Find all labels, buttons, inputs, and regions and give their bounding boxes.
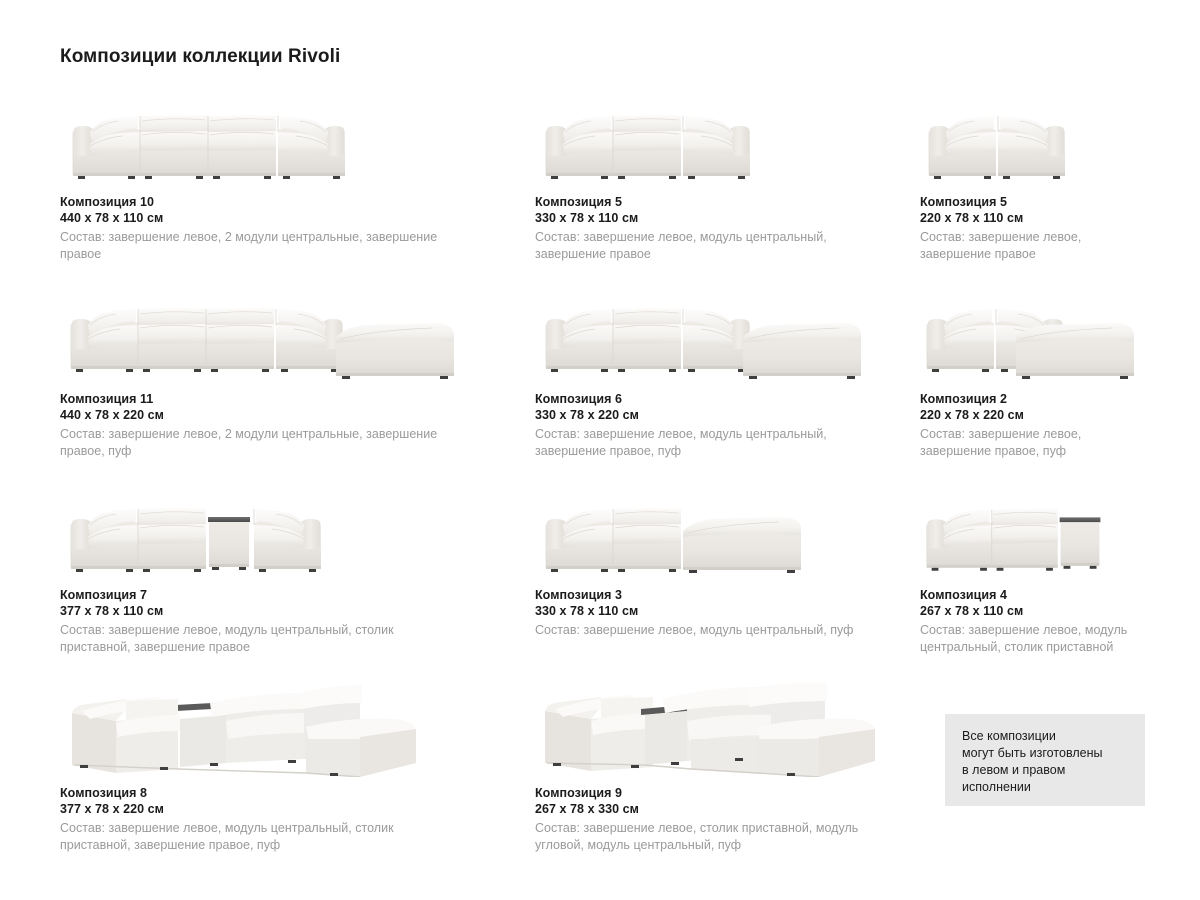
composition-card-6[interactable]: Композиция 6 330 x 78 x 220 см Состав: з… <box>535 285 920 481</box>
composition-dimensions: 267 x 78 x 330 см <box>535 801 920 818</box>
info-line: в левом и правом <box>962 762 1129 779</box>
sofa-figure-4 <box>920 481 1145 579</box>
composition-card-5a[interactable]: Композиция 5 330 x 78 x 110 см Состав: з… <box>535 88 920 285</box>
composition-dimensions: 330 x 78 x 110 см <box>535 210 920 227</box>
info-box: Все композиции могут быть изготовлены в … <box>945 714 1145 806</box>
composition-dimensions: 220 x 78 x 220 см <box>920 407 1145 424</box>
info-line: могут быть изготовлены <box>962 745 1129 762</box>
composition-dimensions: 377 x 78 x 220 см <box>60 801 535 818</box>
composition-dimensions: 377 x 78 x 110 см <box>60 603 535 620</box>
info-line: Все композиции <box>962 728 1129 745</box>
composition-card-9[interactable]: Композиция 9 267 x 78 x 330 см Состав: з… <box>535 679 920 879</box>
composition-name: Композиция 11 <box>60 391 535 407</box>
composition-card-7[interactable]: Композиция 7 377 x 78 x 110 см Состав: з… <box>60 481 535 679</box>
composition-description: Состав: завершение левое, модуль централ… <box>60 820 438 854</box>
caption: Композиция 5 330 x 78 x 110 см Состав: з… <box>535 194 920 263</box>
sofa-figure-3 <box>535 481 920 579</box>
composition-description: Состав: завершение левое, 2 модули центр… <box>60 426 438 460</box>
composition-name: Композиция 4 <box>920 587 1145 603</box>
caption: Композиция 9 267 x 78 x 330 см Состав: з… <box>535 785 920 854</box>
composition-dimensions: 330 x 78 x 220 см <box>535 407 920 424</box>
composition-card-2[interactable]: Композиция 2 220 x 78 x 220 см Состав: з… <box>920 285 1145 481</box>
sofa-figure-9 <box>535 679 920 777</box>
composition-card-4[interactable]: Композиция 4 267 x 78 x 110 см Состав: з… <box>920 481 1145 679</box>
composition-description: Состав: завершение левое, столик пристав… <box>535 820 887 854</box>
composition-description: Состав: завершение левое, модуль централ… <box>535 622 887 639</box>
sofa-figure-2 <box>920 285 1145 383</box>
grid-row: Композиция 11 440 x 78 x 220 см Состав: … <box>60 285 1145 481</box>
composition-name: Композиция 7 <box>60 587 535 603</box>
caption: Композиция 7 377 x 78 x 110 см Состав: з… <box>60 587 535 656</box>
composition-description: Состав: завершение левое, модуль централ… <box>920 622 1145 656</box>
composition-card-10[interactable]: Композиция 10 440 x 78 x 110 см Состав: … <box>60 88 535 285</box>
grid-row: Композиция 10 440 x 78 x 110 см Состав: … <box>60 88 1145 285</box>
composition-name: Композиция 9 <box>535 785 920 801</box>
sofa-figure-6 <box>535 285 920 383</box>
grid-row: Композиция 7 377 x 78 x 110 см Состав: з… <box>60 481 1145 679</box>
composition-dimensions: 267 x 78 x 110 см <box>920 603 1145 620</box>
composition-name: Композиция 3 <box>535 587 920 603</box>
sofa-figure-11 <box>60 285 535 383</box>
caption: Композиция 11 440 x 78 x 220 см Состав: … <box>60 391 535 460</box>
composition-description: Состав: завершение левое, модуль централ… <box>535 426 887 460</box>
composition-card-3[interactable]: Композиция 3 330 x 78 x 110 см Состав: з… <box>535 481 920 679</box>
caption: Композиция 5 220 x 78 x 110 см Состав: з… <box>920 194 1145 263</box>
perspective-sofa-9 <box>545 683 875 777</box>
composition-card-5b[interactable]: Композиция 5 220 x 78 x 110 см Состав: з… <box>920 88 1145 285</box>
sofa-figure-5b <box>920 88 1145 186</box>
composition-card-8[interactable]: Композиция 8 377 x 78 x 220 см Состав: з… <box>60 679 535 879</box>
composition-dimensions: 330 x 78 x 110 см <box>535 603 920 620</box>
perspective-sofa-8 <box>72 685 416 777</box>
composition-name: Композиция 5 <box>920 194 1145 210</box>
composition-description: Состав: завершение левое, модуль централ… <box>535 229 887 263</box>
composition-name: Композиция 5 <box>535 194 920 210</box>
caption: Композиция 8 377 x 78 x 220 см Состав: з… <box>60 785 535 854</box>
composition-description: Состав: завершение левое, завершение пра… <box>920 229 1145 263</box>
info-line: исполнении <box>962 779 1129 796</box>
composition-name: Композиция 10 <box>60 194 535 210</box>
page-title: Композиции коллекции Rivoli <box>60 46 340 68</box>
sofa-figure-7 <box>60 481 535 579</box>
composition-name: Композиция 8 <box>60 785 535 801</box>
caption: Композиция 3 330 x 78 x 110 см Состав: з… <box>535 587 920 639</box>
caption: Композиция 4 267 x 78 x 110 см Состав: з… <box>920 587 1145 656</box>
composition-name: Композиция 2 <box>920 391 1145 407</box>
composition-description: Состав: завершение левое, 2 модули центр… <box>60 229 438 263</box>
catalog-page: Композиции коллекции Rivoli <box>0 0 1200 900</box>
sofa-figure-10 <box>60 88 535 186</box>
composition-name: Композиция 6 <box>535 391 920 407</box>
caption: Композиция 2 220 x 78 x 220 см Состав: з… <box>920 391 1145 460</box>
composition-description: Состав: завершение левое, модуль централ… <box>60 622 438 656</box>
caption: Композиция 10 440 x 78 x 110 см Состав: … <box>60 194 535 263</box>
composition-dimensions: 220 x 78 x 110 см <box>920 210 1145 227</box>
composition-description: Состав: завершение левое, завершение пра… <box>920 426 1145 460</box>
composition-dimensions: 440 x 78 x 110 см <box>60 210 535 227</box>
sofa-figure-8 <box>60 679 535 777</box>
caption: Композиция 6 330 x 78 x 220 см Состав: з… <box>535 391 920 460</box>
composition-card-11[interactable]: Композиция 11 440 x 78 x 220 см Состав: … <box>60 285 535 481</box>
composition-dimensions: 440 x 78 x 220 см <box>60 407 535 424</box>
sofa-figure-5a <box>535 88 920 186</box>
